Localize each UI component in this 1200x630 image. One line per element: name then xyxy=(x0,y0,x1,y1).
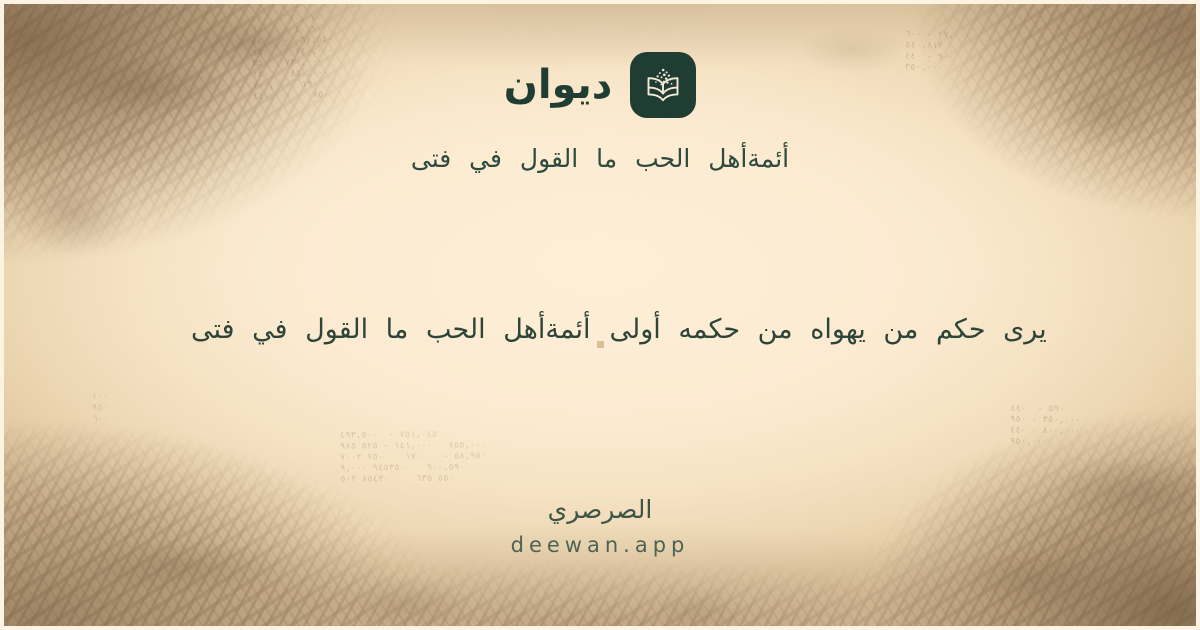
card-frame-border xyxy=(0,0,1200,630)
share-card: ١٠,٠٧٠ - ١٢٠ ٤٠,٩٠٠ - ٦٠٠ ٦٧,٥٥٠ ٤٤٠,٠٠٠… xyxy=(0,0,1200,630)
